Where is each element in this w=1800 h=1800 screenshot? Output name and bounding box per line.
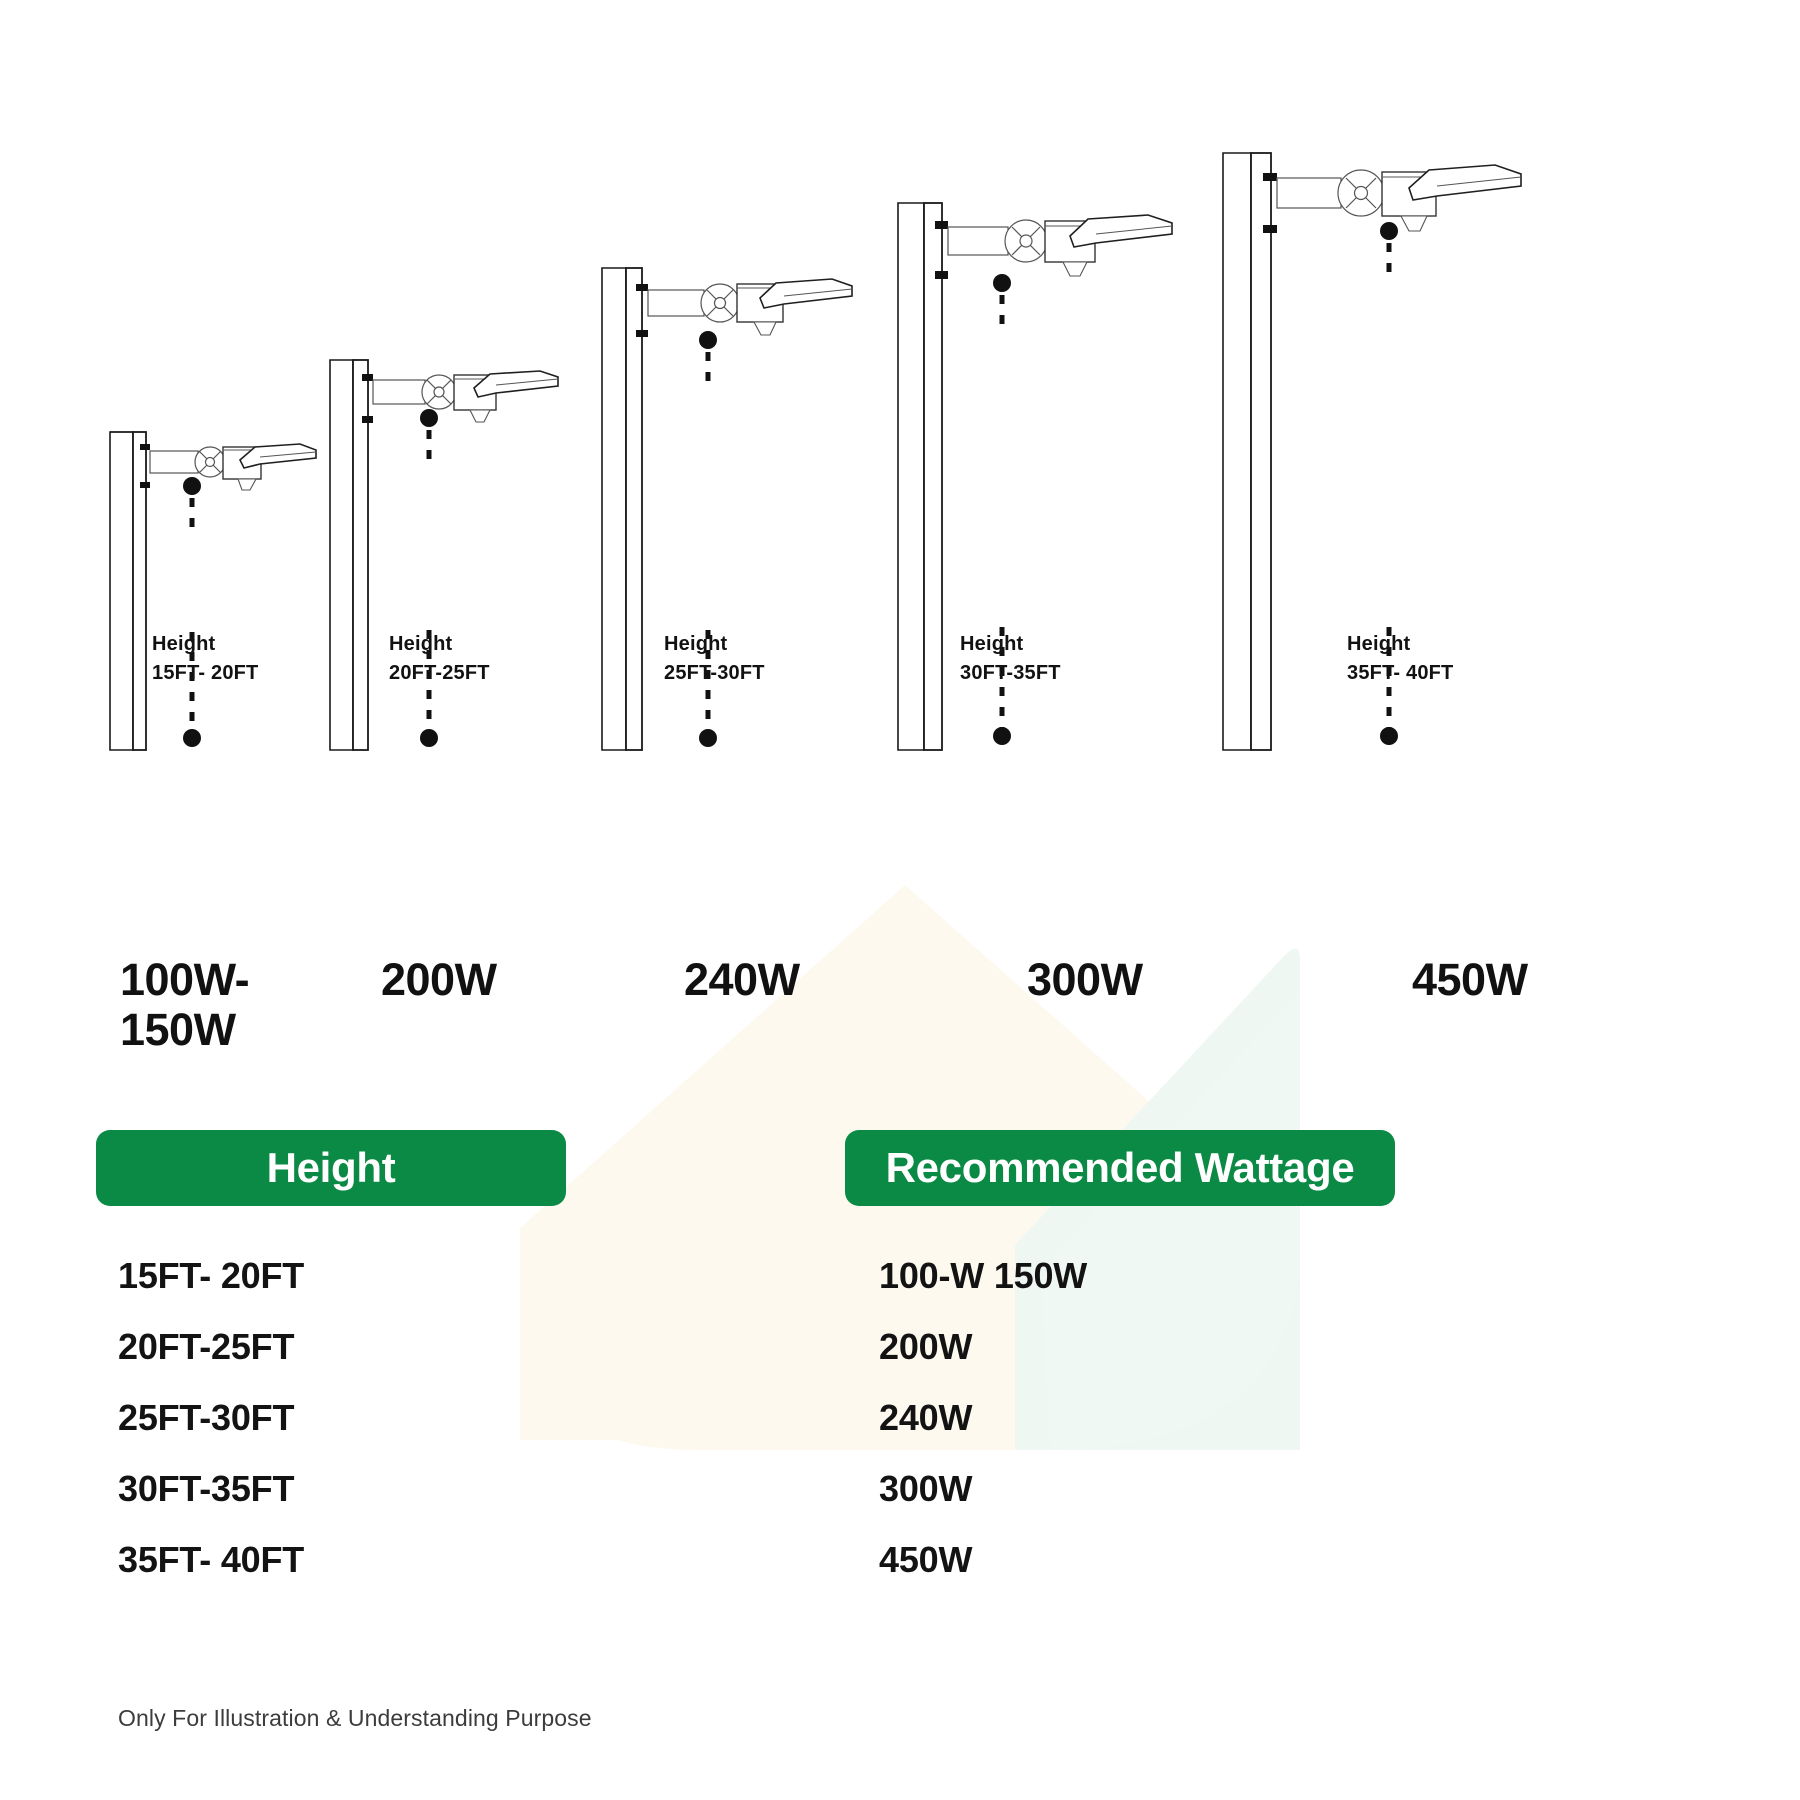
wattage-headline-line2: 150W [120, 1004, 236, 1055]
table-header-wattage-label: Recommended Wattage [886, 1144, 1355, 1192]
table-row: 30FT-35FT 300W [0, 1468, 1800, 1539]
cell-height: 20FT-25FT [118, 1326, 294, 1368]
table-row: 15FT- 20FT 100-W 150W [0, 1255, 1800, 1326]
wattage-headline-line1: 450W [1412, 954, 1528, 1005]
wattage-headline-line1: 200W [381, 954, 497, 1005]
pole-label-range: 20FT-25FT [389, 662, 490, 684]
beam-dot-top [420, 409, 438, 427]
cell-wattage: 240W [879, 1397, 972, 1439]
pole-illustration-row: Height 15FT- 20FT Height 2 [0, 0, 1800, 840]
wattage-headline-5: 450W [1412, 955, 1528, 1005]
pole-diagram-5 [1215, 145, 1575, 840]
beam-dot-top [993, 274, 1011, 292]
beam-dot-top [1380, 222, 1398, 240]
wattage-headline-2: 200W [381, 955, 497, 1005]
cell-height: 25FT-30FT [118, 1397, 294, 1439]
pole-diagram-2 [322, 350, 622, 840]
table-header-height: Height [96, 1130, 566, 1206]
wattage-headline-1: 100W- 150W [120, 955, 249, 1056]
pole-label-4: Height 30FT-35FT [960, 630, 1061, 688]
table-row: 35FT- 40FT 450W [0, 1539, 1800, 1610]
table-header-wattage: Recommended Wattage [845, 1130, 1395, 1206]
beam-dot-bottom [993, 727, 1011, 745]
pole-label-3: Height 25FT-30FT [664, 630, 765, 688]
wattage-headline-line1: 300W [1027, 954, 1143, 1005]
wattage-headline-4: 300W [1027, 955, 1143, 1005]
beam-dot-bottom [420, 729, 438, 747]
cell-wattage: 200W [879, 1326, 972, 1368]
cell-wattage: 300W [879, 1468, 972, 1510]
pole-group-4: Height 30FT-35FT [890, 195, 1230, 840]
pole-label-title: Height [664, 633, 727, 655]
pole-label-title: Height [389, 633, 452, 655]
cell-wattage: 100-W 150W [879, 1255, 1087, 1297]
beam-dot-bottom [699, 729, 717, 747]
pole-label-title: Height [960, 633, 1023, 655]
cell-wattage: 450W [879, 1539, 972, 1581]
pole-diagram-3 [594, 260, 914, 840]
cell-height: 35FT- 40FT [118, 1539, 304, 1581]
pole-label-range: 15FT- 20FT [152, 662, 258, 684]
pole-label-5: Height 35FT- 40FT [1347, 630, 1453, 688]
wattage-headline-line1: 100W- [120, 954, 249, 1005]
illustration-disclaimer: Only For Illustration & Understanding Pu… [118, 1705, 592, 1732]
pole-group-5: Height 35FT- 40FT [1215, 145, 1575, 840]
pole-label-range: 35FT- 40FT [1347, 662, 1453, 684]
pole-label-range: 30FT-35FT [960, 662, 1061, 684]
pole-label-range: 25FT-30FT [664, 662, 765, 684]
wattage-headline-3: 240W [684, 955, 800, 1005]
table-header-height-label: Height [267, 1144, 396, 1192]
table-row: 20FT-25FT 200W [0, 1326, 1800, 1397]
wattage-headline-row: 100W- 150W 200W 240W 300W 450W [0, 955, 1800, 1085]
beam-dot-top [699, 331, 717, 349]
pole-group-3: Height 25FT-30FT [594, 260, 914, 840]
beam-dot-bottom [183, 729, 201, 747]
pole-label-1: Height 15FT- 20FT [152, 630, 258, 688]
pole-group-2: Height 20FT-25FT [322, 350, 622, 840]
beam-dot-bottom [1380, 727, 1398, 745]
wattage-headline-line1: 240W [684, 954, 800, 1005]
cell-height: 15FT- 20FT [118, 1255, 304, 1297]
comparison-table: 15FT- 20FT 100-W 150W 20FT-25FT 200W 25F… [0, 1255, 1800, 1610]
table-row: 25FT-30FT 240W [0, 1397, 1800, 1468]
pole-label-title: Height [1347, 633, 1410, 655]
pole-label-2: Height 20FT-25FT [389, 630, 490, 688]
cell-height: 30FT-35FT [118, 1468, 294, 1510]
pole-diagram-4 [890, 195, 1230, 840]
pole-label-title: Height [152, 633, 215, 655]
beam-dot-top [183, 477, 201, 495]
